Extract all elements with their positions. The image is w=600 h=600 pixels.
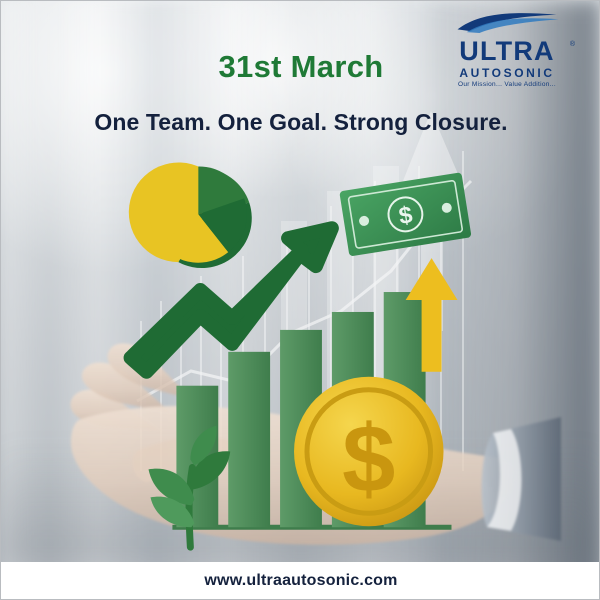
page-subtitle: One Team. One Goal. Strong Closure. (1, 109, 600, 136)
main-illustration: $ $ (1, 1, 599, 599)
gold-dollar-coin-icon: $ (294, 377, 444, 527)
brand-logo: ULTRA AUTOSONIC Our Mission... Value Add… (437, 11, 577, 89)
logo-name-top: ULTRA (437, 38, 577, 65)
website-url[interactable]: www.ultraautosonic.com (204, 572, 397, 590)
svg-text:$: $ (342, 405, 395, 512)
trademark-symbol: ® (570, 41, 575, 48)
logo-name-bottom: AUTOSONIC (437, 67, 577, 79)
dollar-banknote-icon: $ (339, 172, 471, 256)
logo-tagline: Our Mission... Value Addition... (437, 82, 577, 89)
poster-canvas: $ $ (0, 0, 600, 600)
wave-swoosh-icon (452, 11, 562, 33)
pie-chart-icon (129, 150, 252, 268)
footer-website-bar: www.ultraautosonic.com (1, 562, 600, 599)
